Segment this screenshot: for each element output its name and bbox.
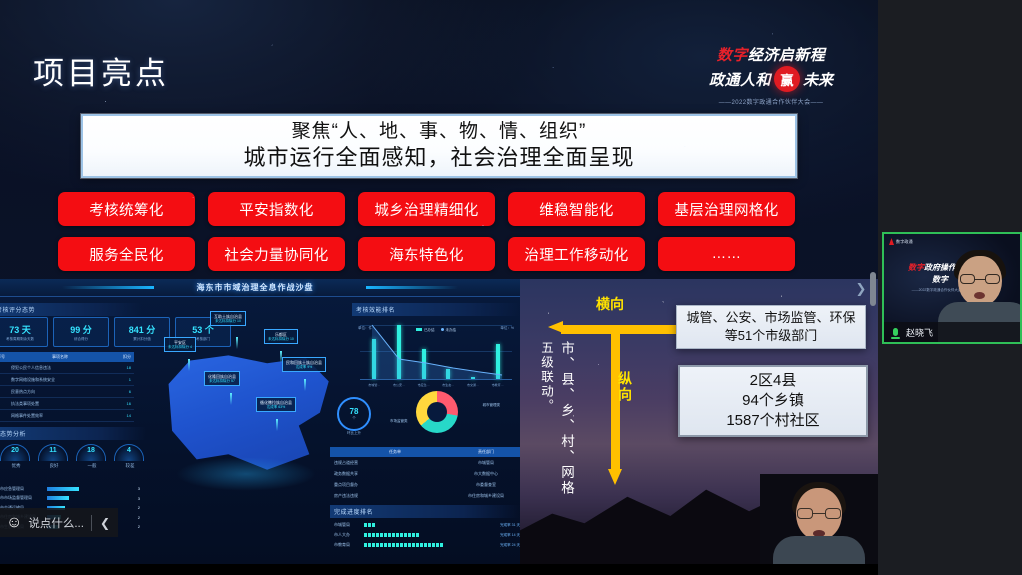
x-tick: 市生态… <box>442 383 454 387</box>
x-tick: 市城管… <box>368 383 380 387</box>
levels-label: 市、县、乡、村、网格 <box>556 341 576 496</box>
conference-brand-logo: 数字经济启新程 政通人和 赢 未来 ——2022数字政通合作伙伴大会—— <box>676 44 866 106</box>
cell-dept: 市住房和城乡建设局 <box>456 493 516 499</box>
dept-count: 2 <box>138 524 140 529</box>
cell-score: 14 <box>109 413 131 419</box>
gauge-value: 18 <box>87 445 95 457</box>
screen-share-meeting-window: 项目亮点 数字经济启新程 政通人和 赢 未来 ——2022数字政通合作伙伴大会—… <box>0 0 1022 575</box>
ring-value: 78 <box>350 407 359 416</box>
cell-task: 政务数据共享 <box>334 471 456 477</box>
kpi-card: 73 天 考核周期剩余天数 <box>0 317 48 347</box>
chart-trend-line <box>362 323 510 379</box>
map-base-glow <box>176 457 316 491</box>
region-metric: 未达标扣除分 57 <box>208 379 236 384</box>
watermark-logo: 数字政通 <box>889 238 913 245</box>
dept-name: 市市场监督管理局 <box>0 495 44 501</box>
banner-line-2: 城市运行全面感知，社会治理全面呈现 <box>243 144 634 172</box>
cell-name: 网格事件处置效率 <box>11 413 109 419</box>
glasses-icon <box>960 274 1000 284</box>
table-row: 3 民意热点方向 6 <box>0 386 134 398</box>
horizontal-axis-label: 横向 <box>596 294 624 314</box>
table-row: 违规占道经营 市城管局 <box>330 457 520 468</box>
ring-label: 环比上升 <box>334 431 374 436</box>
chat-input[interactable]: 说点什么... <box>28 515 85 531</box>
donut-label: 市场监管类 <box>390 419 408 424</box>
dept-name: 市应急管理局 <box>0 486 44 492</box>
banner-line-1: 聚焦“人、地、事、物、情、组织” <box>292 120 587 144</box>
table-row: 4 执法类事项处置 16 <box>0 398 134 410</box>
cell-task: 违规占道经营 <box>334 460 456 466</box>
five-level-label: 五级联动。 <box>537 341 556 414</box>
chat-composer[interactable]: ☺ 说点什么... ❮ <box>0 508 118 537</box>
dashboard-panel-heading-trend: 态势分析 <box>0 427 146 440</box>
coordination-diagram: 横向 纵向 五级联动。 市、县、乡、村、网格 城管、公安、市场监管、环保等51个… <box>520 279 878 564</box>
participant-name: 赵晓飞 <box>906 326 933 339</box>
x-tick: 市应急… <box>418 383 430 387</box>
dept-count: 2 <box>138 515 140 520</box>
list-item: 市应急管理局 3 <box>0 486 146 492</box>
cell-name: 侵犯公民个人信息违法 <box>11 365 109 371</box>
brand-subtitle: ——2022数字政通合作伙伴大会—— <box>676 97 866 106</box>
cell-score: 1 <box>109 377 131 383</box>
table-row: 5 网格事件处置效率 14 <box>0 410 134 422</box>
brand-line1-rest: 经济启新程 <box>748 47 826 64</box>
list-item: 市城管局 完成率 31 天 <box>330 522 520 528</box>
summary-ring-widget: 78 个 环比上升 <box>334 397 374 436</box>
region-line: 94个乡镇 <box>742 391 804 411</box>
progress-name: 市教育局 <box>334 542 360 548</box>
table-header: 序号 事项名称 扣分 <box>0 352 134 362</box>
column-header: 任务单 <box>334 449 456 455</box>
cell-task: 房产违法违规 <box>334 493 456 499</box>
dept-count: 3 <box>138 496 140 501</box>
haidong-city-map: 互助土族自治县 未达标扣除分 10 乐都区 未达标扣除分 10 平安区 未达标扣… <box>148 307 344 507</box>
dashboard-decor-left <box>62 286 154 289</box>
table-header: 任务单 责任部门 <box>330 447 520 457</box>
participant-name-bar: 赵晓飞 <box>884 322 1020 342</box>
region-callout-box: 2区4县 94个乡镇 1587个村社区 <box>678 365 868 437</box>
glasses-icon <box>797 508 841 519</box>
page-title: 项目亮点 <box>33 48 169 93</box>
cell-name: 数字网络设施和系统安全 <box>11 377 109 383</box>
highlight-tag-grid: 考核统筹化 平安指数化 城乡治理精细化 维稳智能化 基层治理网格化 服务全民化 … <box>58 192 806 271</box>
department-callout-box: 城管、公安、市场监管、环保等51个市级部门 <box>676 305 866 349</box>
kpi-label: 考核周期剩余天数 <box>6 337 34 342</box>
cell-score: 16 <box>109 401 131 407</box>
highlight-tag: 服务全民化 <box>58 237 195 271</box>
highlight-tag: 城乡治理精细化 <box>358 192 495 226</box>
cell-index: 1 <box>0 365 11 371</box>
shared-screen-stage: 项目亮点 数字经济启新程 政通人和 赢 未来 ——2022数字政通合作伙伴大会—… <box>0 0 878 575</box>
gauge-label: 一般 <box>76 463 108 469</box>
cell-name: 执法类事项处置 <box>11 401 109 407</box>
stage-scrollbar[interactable] <box>870 272 876 306</box>
dashboard-panel-heading-progress: 完成进度排名 <box>330 505 520 518</box>
dept-count: 3 <box>138 486 140 491</box>
gauge-value: 4 <box>127 445 131 457</box>
performance-bar-chart: 考核效能排名 单位：件 单位：% 已办结 未办结 <box>352 303 520 380</box>
brand-line1-highlight: 数字 <box>717 47 748 64</box>
headline-banner: 聚焦“人、地、事、物、情、组织” 城市运行全面感知，社会治理全面呈现 <box>81 114 797 178</box>
table-row: 重点项目督办 市委督查室 <box>330 479 520 490</box>
participant-mouth <box>974 292 985 299</box>
table-row: 政务数据共享 市大数据中心 <box>330 468 520 479</box>
kpi-value: 99 分 <box>70 323 92 336</box>
progress-tail: 完成率 14 天 <box>492 533 520 538</box>
list-item: 市教育局 完成率 24 天 <box>330 542 520 548</box>
participant-rail: 数字政通 数字政府操作系统 数字 ——2022数字政通合作伙伴大会—— 赵晓飞 <box>878 0 1022 575</box>
map-region-tooltip: 循化撒拉族自治县 达成率 63% <box>256 397 296 412</box>
region-metric: 达成率 9% <box>286 365 322 370</box>
dashboard-panel-heading-score: 考核评分态势 <box>0 303 142 316</box>
completion-progress-panel: 完成进度排名 市城管局 完成率 31 天 市人大办 完成率 14 天 市教育局 <box>330 505 520 548</box>
progress-name: 市人大办 <box>334 532 360 538</box>
dashboard-decor-right <box>366 286 458 289</box>
presenter-torso <box>773 536 865 564</box>
smiley-icon[interactable]: ☺ <box>6 515 22 531</box>
gauge-widget: 11 良好 <box>38 444 70 469</box>
table-row: 1 侵犯公民个人信息违法 18 <box>0 362 134 374</box>
progress-tail: 完成率 24 天 <box>492 543 520 548</box>
x-tick: 市教育… <box>492 383 504 387</box>
deduction-table: 序号 事项名称 扣分 1 侵犯公民个人信息违法 18 2 数字网络设施和系统安全… <box>0 352 134 422</box>
gauge-label: 优秀 <box>0 463 32 469</box>
region-metric: 未达标扣除分 10 <box>268 337 294 342</box>
cell-dept: 市委督查室 <box>456 482 516 488</box>
chevron-left-icon[interactable]: ❮ <box>98 516 112 530</box>
dept-count: 2 <box>138 505 140 510</box>
dashboard-panel-heading-rank: 考核效能排名 <box>352 303 520 316</box>
table-row: 2 数字网络设施和系统安全 1 <box>0 374 134 386</box>
list-item: 市市场监督管理局 3 <box>0 495 146 501</box>
cell-index: 3 <box>0 389 11 395</box>
cell-index: 4 <box>0 401 11 407</box>
cell-index: 2 <box>0 377 11 383</box>
tile-brand-highlight: 数字 <box>908 263 924 272</box>
highlight-tag: 考核统筹化 <box>58 192 195 226</box>
column-header: 事项名称 <box>11 354 109 360</box>
region-metric: 未达标扣除分 4 <box>168 345 192 350</box>
highlight-tag: 基层治理网格化 <box>658 192 795 226</box>
highlight-tag: 维稳智能化 <box>508 192 645 226</box>
highlight-tag: 海东特色化 <box>358 237 495 271</box>
gauge-widget: 18 一般 <box>76 444 108 469</box>
cell-task: 重点项目督办 <box>334 482 456 488</box>
gauge-value: 11 <box>49 445 56 457</box>
brand-line3: 未来 <box>803 69 833 90</box>
donut-shape <box>416 391 458 433</box>
cell-name: 民意热点方向 <box>11 389 109 395</box>
highlight-tag: 治理工作移动化 <box>508 237 645 271</box>
ring-unit: 个 <box>352 416 356 421</box>
highlight-tag: …… <box>658 237 795 271</box>
map-region-tooltip: 民和回族土族自治县 达成率 9% <box>282 357 326 372</box>
logo-mark-icon <box>889 238 894 245</box>
presentation-slide: 项目亮点 数字经济启新程 政通人和 赢 未来 ——2022数字政通合作伙伴大会—… <box>0 0 878 564</box>
region-line: 1587个村社区 <box>726 411 819 431</box>
map-region-tooltip: 平安区 未达标扣除分 4 <box>164 337 196 352</box>
region-line: 2区4县 <box>750 371 797 391</box>
list-item: 市人大办 完成率 14 天 <box>330 532 520 538</box>
region-metric: 达成率 63% <box>260 405 292 410</box>
vertical-arrow-icon <box>608 325 622 485</box>
chevron-right-icon[interactable]: ❯ <box>854 276 868 302</box>
highlight-tag: 平安指数化 <box>208 192 345 226</box>
kpi-label: 综合得分 <box>74 337 88 342</box>
microphone-icon[interactable] <box>889 326 902 339</box>
brand-line2: 政通人和 <box>709 69 771 90</box>
x-tick: 市公安… <box>393 383 405 387</box>
map-region-tooltip: 乐都区 未达标扣除分 10 <box>264 329 298 344</box>
dashboard-title: 海东市市域治理全息作战沙盘 <box>172 282 338 293</box>
watermark-text: 数字政通 <box>896 239 913 245</box>
participant-video-tile[interactable]: 数字政通 数字政府操作系统 数字 ——2022数字政通合作伙伴大会—— 赵晓飞 <box>882 232 1022 344</box>
cell-score: 18 <box>109 365 131 371</box>
map-region-tooltip: 互助土族自治县 未达标扣除分 10 <box>210 311 246 326</box>
brand-seal-icon: 赢 <box>774 66 800 92</box>
map-region-tooltip: 化隆回族自治县 未达标扣除分 57 <box>204 371 240 386</box>
gauge-value: 20 <box>11 445 19 457</box>
composer-divider <box>91 515 92 531</box>
column-header: 序号 <box>0 354 11 360</box>
progress-name: 市城管局 <box>334 522 360 528</box>
cell-dept: 市大数据中心 <box>456 471 516 477</box>
progress-tail: 完成率 31 天 <box>492 523 520 528</box>
horizontal-arrow-icon <box>548 321 696 334</box>
gauge-widget: 4 较差 <box>114 444 146 469</box>
highlight-tag: 社会力量协同化 <box>208 237 345 271</box>
cell-dept: 市城管局 <box>456 460 516 466</box>
gauge-label: 良好 <box>38 463 70 469</box>
table-row: 房产违法违规 市住房和城乡建设局 <box>330 490 520 501</box>
column-header: 扣分 <box>109 354 131 360</box>
category-donut-chart: 市场监管类 城市管理类 <box>390 391 500 447</box>
cell-index: 5 <box>0 413 11 419</box>
gauge-label: 较差 <box>114 463 146 469</box>
cell-score: 6 <box>109 389 131 395</box>
chart-x-tick-labels: 市城管… 市公安… 市应急… 市生态… 市交通… 市教育… <box>362 383 510 387</box>
presenter-webcam-inset <box>760 474 878 564</box>
task-assignment-table: 任务单 责任部门 违规占道经营 市城管局 政务数据共享 市大数据中心 重点项目督… <box>330 447 520 501</box>
donut-label: 城市管理类 <box>483 403 501 408</box>
vertical-axis-label: 纵向 <box>615 371 635 403</box>
kpi-value: 73 天 <box>9 323 31 336</box>
gauge-widget: 20 优秀 <box>0 444 32 469</box>
kpi-card: 99 分 综合得分 <box>53 317 109 347</box>
performance-gauge-panel: 态势分析 20 优秀 11 良好 18 一般 <box>0 427 146 469</box>
region-metric: 未达标扣除分 10 <box>214 319 242 324</box>
x-tick: 市交通… <box>467 383 479 387</box>
column-header: 责任部门 <box>456 449 516 455</box>
